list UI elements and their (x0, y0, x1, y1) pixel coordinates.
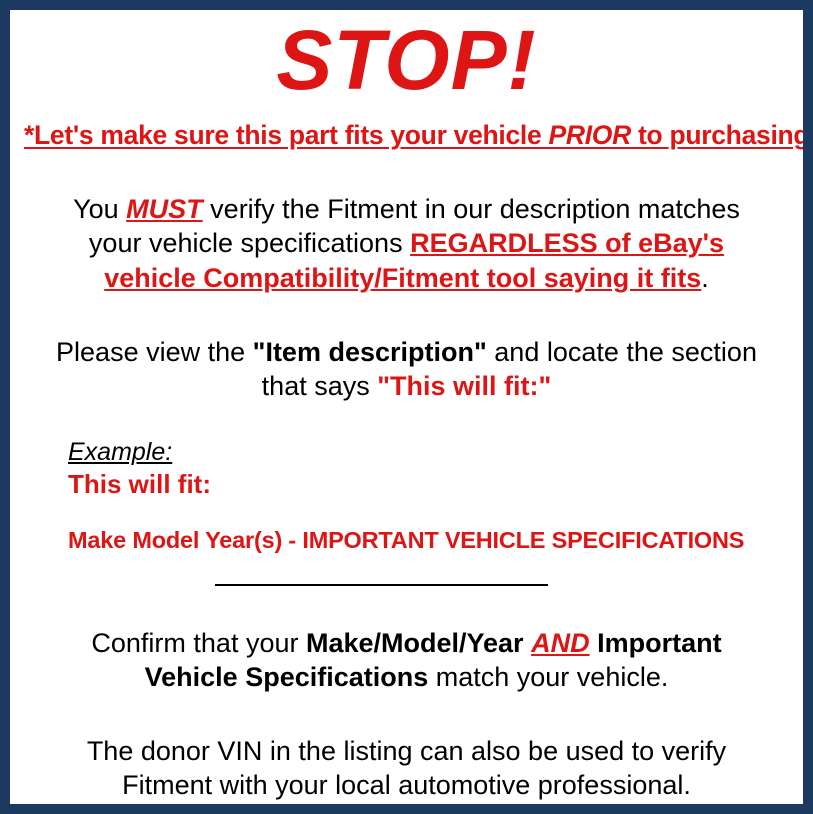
example-fit-heading: This will fit: (68, 469, 789, 500)
fitment-notice-card: STOP! *Let's make sure this part fits yo… (0, 0, 813, 814)
must-seg-1: You (73, 194, 126, 224)
must-emphasis: MUST (126, 194, 203, 224)
donor-vin-paragraph: The donor VIN in the listing can also be… (24, 734, 789, 802)
this-will-fit-quote: "This will fit:" (377, 371, 551, 401)
subtitle-text-after: to purchasing* (631, 120, 813, 150)
subtitle-prior-emphasis: PRIOR (548, 120, 630, 150)
must-verify-paragraph: You MUST verify the Fitment in our descr… (24, 192, 789, 294)
notice-content: STOP! *Let's make sure this part fits yo… (10, 18, 803, 812)
divider (24, 576, 789, 594)
item-description-paragraph: Please view the "Item description" and l… (24, 335, 789, 403)
confirm-seg-1: Confirm that your (91, 628, 306, 658)
and-emphasis: AND (531, 628, 590, 658)
example-label: Example: (68, 437, 172, 467)
subtitle-banner: *Let's make sure this part fits your veh… (24, 120, 789, 150)
divider-line (215, 584, 548, 586)
confirm-space-1 (524, 628, 532, 658)
must-seg-3: . (701, 263, 709, 293)
example-spec-line: Make Model Year(s) - IMPORTANT VEHICLE S… (68, 526, 789, 554)
make-model-year-bold: Make/Model/Year (306, 628, 524, 658)
confirm-space-2 (590, 628, 598, 658)
example-label-row: Example: (68, 437, 789, 467)
example-block: Example: This will fit: Make Model Year(… (24, 437, 789, 554)
confirm-seg-2: match your vehicle. (428, 662, 668, 692)
confirm-paragraph: Confirm that your Make/Model/Year AND Im… (24, 626, 789, 694)
subtitle-text-before: *Let's make sure this part fits your veh… (24, 120, 548, 150)
item-description-quote: "Item description" (253, 337, 487, 367)
view-seg-1: Please view the (56, 337, 253, 367)
page-title: STOP! (24, 18, 789, 102)
